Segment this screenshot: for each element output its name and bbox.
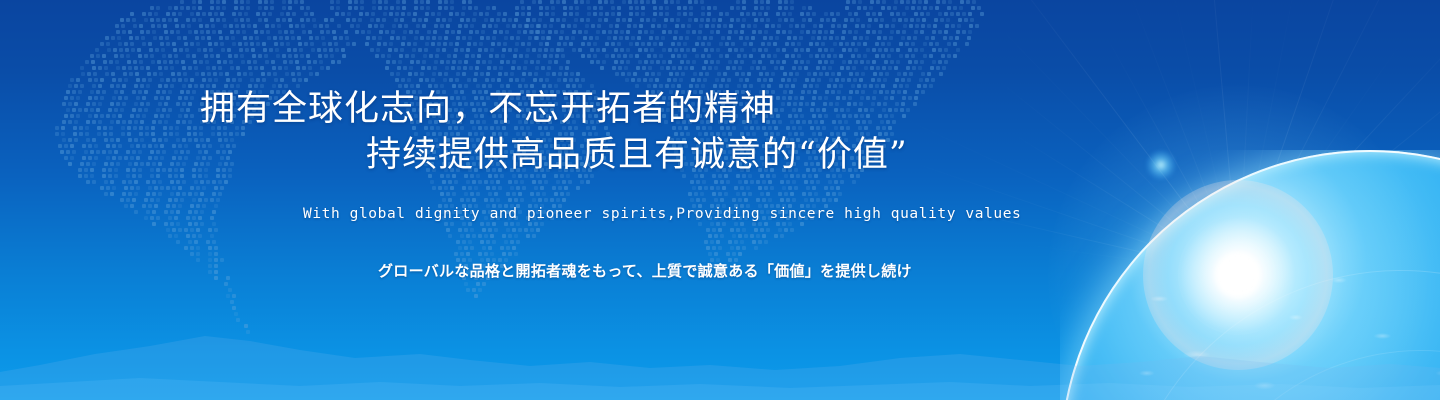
tagline-japanese: グローバルな品格と開拓者魂をもって、上質で誠意ある「価値」を提供し続け bbox=[378, 260, 912, 281]
hero-banner: 拥有全球化志向，不忘开拓者的精神 持续提供高品质且有诚意的“价值” With g… bbox=[0, 0, 1440, 400]
headline-line-2: 持续提供高品质且有诚意的“价值” bbox=[366, 138, 908, 173]
headline-line-1: 拥有全球化志向，不忘开拓者的精神 bbox=[200, 92, 776, 127]
tagline-english: With global dignity and pioneer spirits,… bbox=[303, 206, 1021, 222]
sun-flare-hotspot bbox=[1215, 252, 1261, 298]
banner-copy: 拥有全球化志向，不忘开拓者的精神 持续提供高品质且有诚意的“价值” With g… bbox=[0, 0, 1100, 400]
